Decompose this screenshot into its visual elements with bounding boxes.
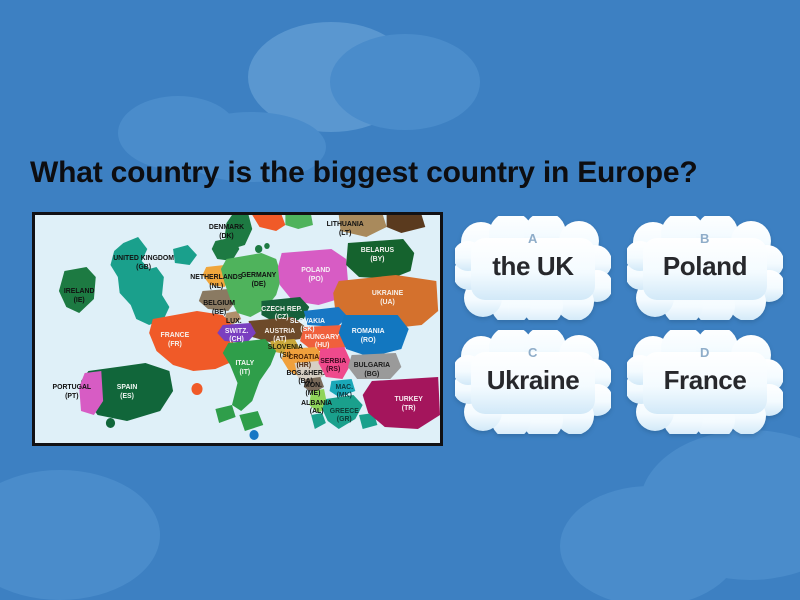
- answer-option-c[interactable]: C Ukraine: [455, 330, 611, 434]
- answer-letter: B: [627, 231, 783, 246]
- svg-text:(ME): (ME): [306, 388, 321, 397]
- svg-text:DENMARK: DENMARK: [209, 222, 245, 231]
- svg-text:(AL): (AL): [310, 406, 324, 415]
- svg-text:(CH): (CH): [229, 334, 244, 343]
- svg-text:(GB): (GB): [136, 262, 151, 271]
- svg-text:UKRAINE: UKRAINE: [372, 288, 404, 297]
- svg-text:(DE): (DE): [252, 279, 267, 288]
- svg-text:TURKEY: TURKEY: [395, 394, 423, 403]
- svg-text:(UA): (UA): [380, 297, 395, 306]
- answer-letter: A: [455, 231, 611, 246]
- svg-text:(PO): (PO): [308, 274, 323, 283]
- svg-text:IRELAND: IRELAND: [64, 286, 95, 295]
- svg-text:GERMANY: GERMANY: [241, 270, 276, 279]
- svg-text:(RS): (RS): [326, 364, 341, 373]
- answer-option-a[interactable]: A the UK: [455, 216, 611, 320]
- europe-map-image: IRELAND (IE) UNITED KINGDOM (GB) DENMARK…: [32, 212, 443, 446]
- svg-text:(GR): (GR): [337, 414, 352, 423]
- answer-option-b[interactable]: B Poland: [627, 216, 783, 320]
- answer-option-d[interactable]: D France: [627, 330, 783, 434]
- sky-cloud-decoration: [560, 486, 740, 600]
- svg-text:LITHUANIA: LITHUANIA: [327, 219, 364, 228]
- answer-letter: C: [455, 345, 611, 360]
- svg-text:(RO): (RO): [361, 335, 376, 344]
- svg-text:(LT): (LT): [339, 228, 352, 237]
- answer-label: the UK: [455, 249, 611, 283]
- svg-text:(IT): (IT): [240, 367, 251, 376]
- svg-text:(IE): (IE): [74, 295, 86, 304]
- sky-cloud-decoration: [330, 34, 480, 130]
- page-title: What country is the biggest country in E…: [30, 154, 772, 192]
- svg-text:LUX.: LUX.: [226, 316, 242, 325]
- svg-text:ROMANIA: ROMANIA: [352, 326, 385, 335]
- answer-letter: D: [627, 345, 783, 360]
- svg-text:FRANCE: FRANCE: [161, 330, 190, 339]
- svg-text:(BE): (BE): [212, 307, 227, 316]
- svg-text:(CZ): (CZ): [275, 312, 289, 321]
- svg-text:(BG): (BG): [364, 369, 379, 378]
- svg-text:(FR): (FR): [168, 339, 182, 348]
- map-svg: IRELAND (IE) UNITED KINGDOM (GB) DENMARK…: [35, 215, 440, 443]
- svg-text:(NL): (NL): [209, 281, 223, 290]
- svg-text:SPAIN: SPAIN: [117, 382, 138, 391]
- answer-label: Ukraine: [455, 363, 611, 397]
- svg-text:BULGARIA: BULGARIA: [354, 360, 390, 369]
- sky-cloud-decoration: [640, 430, 800, 580]
- svg-text:NETHERLANDS: NETHERLANDS: [190, 272, 242, 281]
- svg-text:(BY): (BY): [370, 254, 385, 263]
- svg-text:(MK): (MK): [337, 390, 353, 399]
- svg-text:(HU): (HU): [315, 340, 330, 349]
- sky-cloud-decoration: [0, 470, 160, 600]
- sky-cloud-decoration: [248, 22, 414, 132]
- quiz-slide: What country is the biggest country in E…: [0, 0, 800, 600]
- answer-label: France: [627, 363, 783, 397]
- svg-text:ITALY: ITALY: [235, 358, 254, 367]
- answer-label: Poland: [627, 249, 783, 283]
- svg-text:POLAND: POLAND: [301, 265, 330, 274]
- svg-text:(ES): (ES): [120, 391, 134, 400]
- answer-options: A the UK B Poland: [455, 216, 785, 442]
- svg-text:BELARUS: BELARUS: [361, 245, 394, 254]
- svg-text:BELGIUM: BELGIUM: [203, 298, 235, 307]
- svg-text:UNITED KINGDOM: UNITED KINGDOM: [113, 253, 174, 262]
- svg-text:(PT): (PT): [65, 391, 79, 400]
- svg-text:(DK): (DK): [219, 231, 234, 240]
- svg-text:(TR): (TR): [402, 403, 416, 412]
- svg-text:PORTUGAL: PORTUGAL: [53, 382, 92, 391]
